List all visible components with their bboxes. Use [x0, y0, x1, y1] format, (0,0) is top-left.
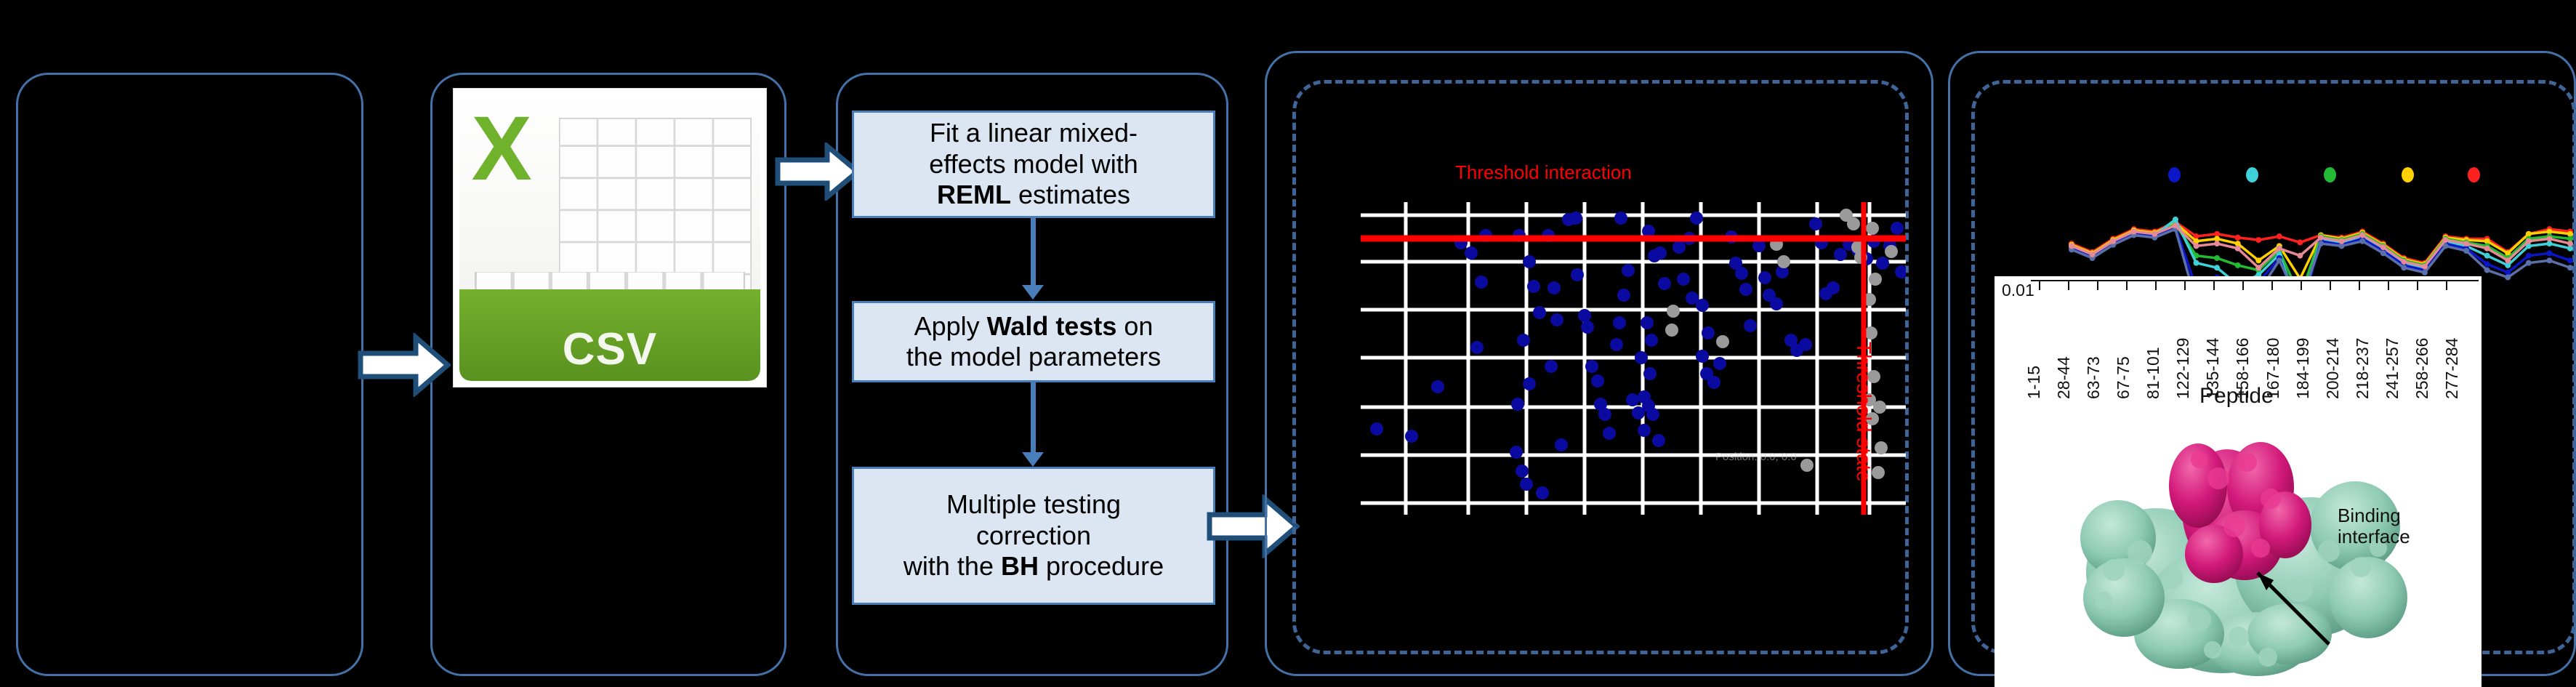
box-bh-line2: correction [976, 521, 1091, 550]
line-series-point [2359, 238, 2365, 244]
connector-wald-to-bh-head [1022, 452, 1044, 467]
binding-interface-line2: interface [2338, 526, 2410, 547]
line-series-point [2526, 260, 2532, 266]
line-series-point [2194, 260, 2199, 266]
line-series-point [2255, 237, 2261, 243]
connector-wald-to-bh [1031, 382, 1036, 452]
line-series-point [2546, 236, 2552, 241]
line-series-point [2443, 237, 2449, 243]
line-series-point [2235, 262, 2241, 268]
line-series-point [2401, 259, 2407, 265]
peptide-tick-label: 184-199 [2293, 338, 2313, 399]
line-series-point [2505, 257, 2511, 263]
peptide-tick-label: 218-237 [2353, 338, 2372, 399]
peptide-tick-label: 258-266 [2412, 338, 2432, 399]
yaxis-tick-label: 0.01 [2002, 281, 2034, 300]
line-series-point [2297, 239, 2303, 245]
peptide-tick-label: 81-101 [2144, 347, 2163, 399]
box-bh-text: Multiple testing correction with the BH … [898, 488, 1170, 583]
line-series-point [2359, 232, 2365, 238]
box-bh-line3-pre: with the [903, 551, 1001, 581]
line-series-point [2526, 238, 2532, 244]
box-wald[interactable]: Apply Wald tests on the model parameters [852, 301, 1215, 382]
peptide-tick-labels: 1-1528-4463-7367-7581-101122-129135-1441… [2031, 294, 2479, 387]
threshold-state-label: Threshold state [1852, 342, 1875, 482]
peptide-axis-title: Peptide [2199, 384, 2274, 409]
box-bh-line3-post: procedure [1039, 551, 1164, 581]
legend-dot-cyan [2246, 167, 2258, 182]
box-wald-line1-pre: Apply [914, 311, 987, 341]
line-series-point [2214, 265, 2220, 270]
connector-reml-to-wald-head [1022, 285, 1044, 300]
line-series-point [2484, 261, 2490, 267]
volcano-scatter-plot [1361, 202, 1906, 515]
peptide-tick-label: 28-44 [2054, 356, 2074, 399]
line-series-point [2069, 243, 2074, 249]
line-series-point [2567, 265, 2573, 270]
line-series-point [2546, 257, 2552, 263]
line-series-point [2505, 275, 2511, 281]
line-series-point [2380, 244, 2386, 250]
box-wald-line1-post: on [1116, 311, 1153, 341]
line-series-point [2297, 253, 2303, 259]
box-reml[interactable]: Fit a linear mixed- effects model with R… [852, 111, 1215, 218]
line-series-point [2235, 235, 2241, 241]
box-wald-line2: the model parameters [906, 342, 1161, 371]
binding-interface-line1: Binding [2338, 505, 2410, 526]
line-series-point [2567, 241, 2573, 246]
line-series-point [2318, 241, 2324, 246]
line-series-point [2401, 265, 2407, 270]
line-series-point [2173, 217, 2178, 222]
line-series-point [2484, 268, 2490, 273]
line-series-point [2463, 241, 2469, 246]
legend-dot-green [2324, 167, 2336, 182]
line-series-point [2110, 238, 2116, 244]
excel-x-glyph: X [472, 103, 532, 194]
connector-reml-to-wald [1031, 218, 1036, 285]
line-series-point [2484, 253, 2490, 259]
box-reml-line2: effects model with [929, 149, 1138, 179]
arrow-source-to-csv [358, 333, 451, 397]
box-reml-text: Fit a linear mixed- effects model with R… [923, 116, 1143, 212]
threshold-interaction-label: Threshold interaction [1455, 161, 1632, 184]
line-series-point [2380, 250, 2386, 256]
peptide-tick-label: 241-257 [2383, 338, 2402, 399]
csv-icon-body: X CSV [459, 95, 760, 381]
line-series-point [2214, 255, 2220, 261]
line-series-point [2090, 252, 2096, 257]
peptide-tick-label: 63-73 [2084, 356, 2104, 399]
structure-card: 0.01 1-1528-4463-7367-7581-101122-129135… [1995, 276, 2482, 687]
arrow-csv-to-stats [775, 142, 861, 201]
line-series-point [2255, 257, 2261, 263]
box-bh-line1: Multiple testing [946, 489, 1121, 519]
line-series-point [2131, 228, 2137, 234]
line-series-point [2463, 248, 2469, 254]
line-series-point [2194, 243, 2199, 249]
peptide-tick-label: 122-129 [2173, 338, 2193, 399]
line-series-point [2422, 264, 2428, 270]
line-series-point [2255, 265, 2261, 270]
legend-dot-blue [2168, 167, 2181, 182]
line-series-point [2526, 253, 2532, 259]
line-series-point [2318, 235, 2324, 241]
line-series-point [2152, 231, 2157, 237]
box-wald-text: Apply Wald tests on the model parameters [901, 310, 1167, 374]
position-readout: Position: 0.0, 0.0 [1715, 451, 1797, 463]
box-bh-line3-bold: BH [1001, 551, 1039, 581]
line-series-point [2277, 257, 2282, 263]
peptide-tick-label: 200-214 [2323, 338, 2343, 399]
panel-data-source [16, 73, 363, 676]
peptide-tick-label: 277-284 [2442, 338, 2462, 399]
line-series-point [2567, 257, 2573, 263]
peptide-tick-label: 67-75 [2114, 356, 2133, 399]
legend-dot-red [2468, 167, 2480, 182]
box-reml-line3-rest: estimates [1011, 180, 1130, 209]
peptide-tick-label: 1-15 [2024, 366, 2044, 399]
csv-label: CSV [459, 324, 760, 375]
line-series-point [2546, 250, 2552, 256]
box-reml-line1: Fit a linear mixed- [930, 118, 1138, 148]
line-series-point [2173, 222, 2178, 228]
line-series-point [2339, 238, 2345, 244]
box-wald-line1-bold: Wald tests [987, 311, 1117, 341]
line-series-point [2235, 246, 2241, 252]
line-series-point [2214, 241, 2220, 246]
box-reml-line3-bold: REML [937, 180, 1011, 209]
line-series-point [2422, 270, 2428, 276]
line-series-point [2277, 233, 2282, 239]
box-bh[interactable]: Multiple testing correction with the BH … [852, 467, 1215, 605]
line-series-point [2277, 246, 2282, 252]
csv-file-icon: X CSV [454, 89, 766, 387]
line-series-point [2484, 246, 2490, 252]
binding-interface-label: Binding interface [2338, 505, 2410, 547]
peptide-axis [2031, 279, 2479, 291]
legend-dot-yellow [2402, 167, 2414, 182]
